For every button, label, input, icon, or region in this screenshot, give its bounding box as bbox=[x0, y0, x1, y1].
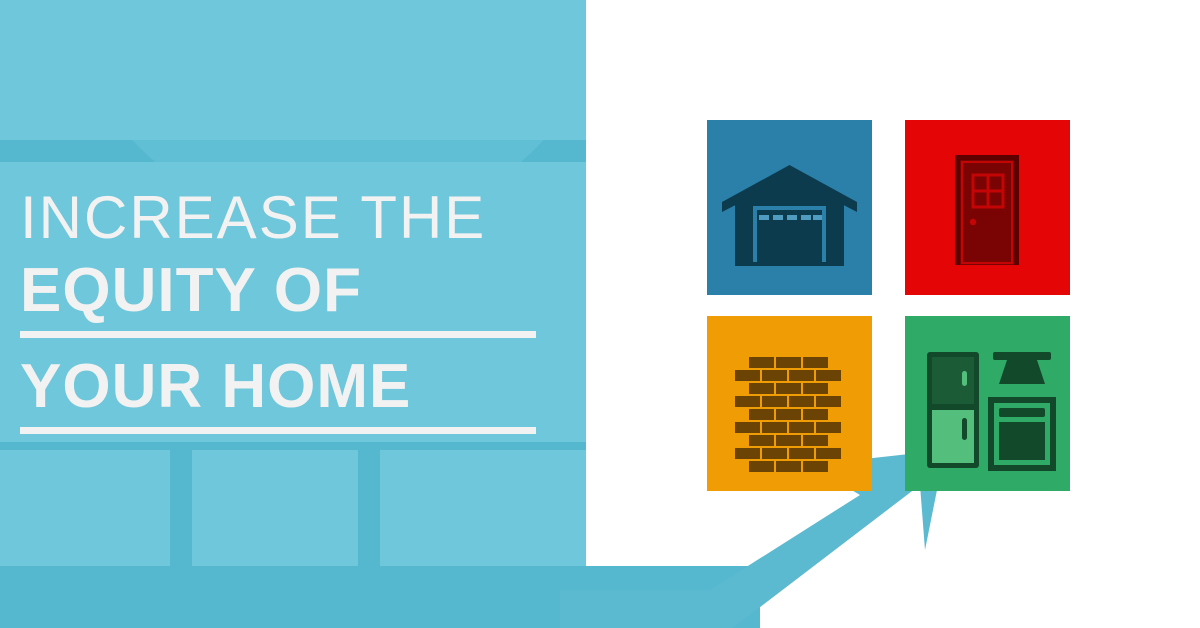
headline-line-3: YOUR HOME bbox=[20, 352, 566, 422]
headline-underline-2 bbox=[20, 427, 536, 434]
tile-brick-wall[interactable] bbox=[707, 316, 872, 491]
window-pane bbox=[380, 450, 586, 580]
tile-kitchen-appliances[interactable] bbox=[905, 316, 1070, 491]
tile-front-door[interactable] bbox=[905, 120, 1070, 295]
headline-line-2: EQUITY OF bbox=[20, 256, 566, 326]
window-pane bbox=[192, 450, 358, 580]
window-pane bbox=[202, 0, 404, 140]
tile-garage[interactable] bbox=[707, 120, 872, 295]
headline-block: INCREASE THE EQUITY OF YOUR HOME bbox=[20, 186, 566, 434]
poster-canvas: INCREASE THE EQUITY OF YOUR HOME bbox=[0, 0, 1200, 628]
icon-grid bbox=[707, 120, 1070, 500]
window-pane bbox=[0, 0, 202, 140]
window-pane bbox=[404, 0, 586, 140]
headline-line-1: INCREASE THE bbox=[20, 186, 566, 250]
headline-underline-1 bbox=[20, 331, 536, 338]
window-pane bbox=[0, 450, 170, 580]
